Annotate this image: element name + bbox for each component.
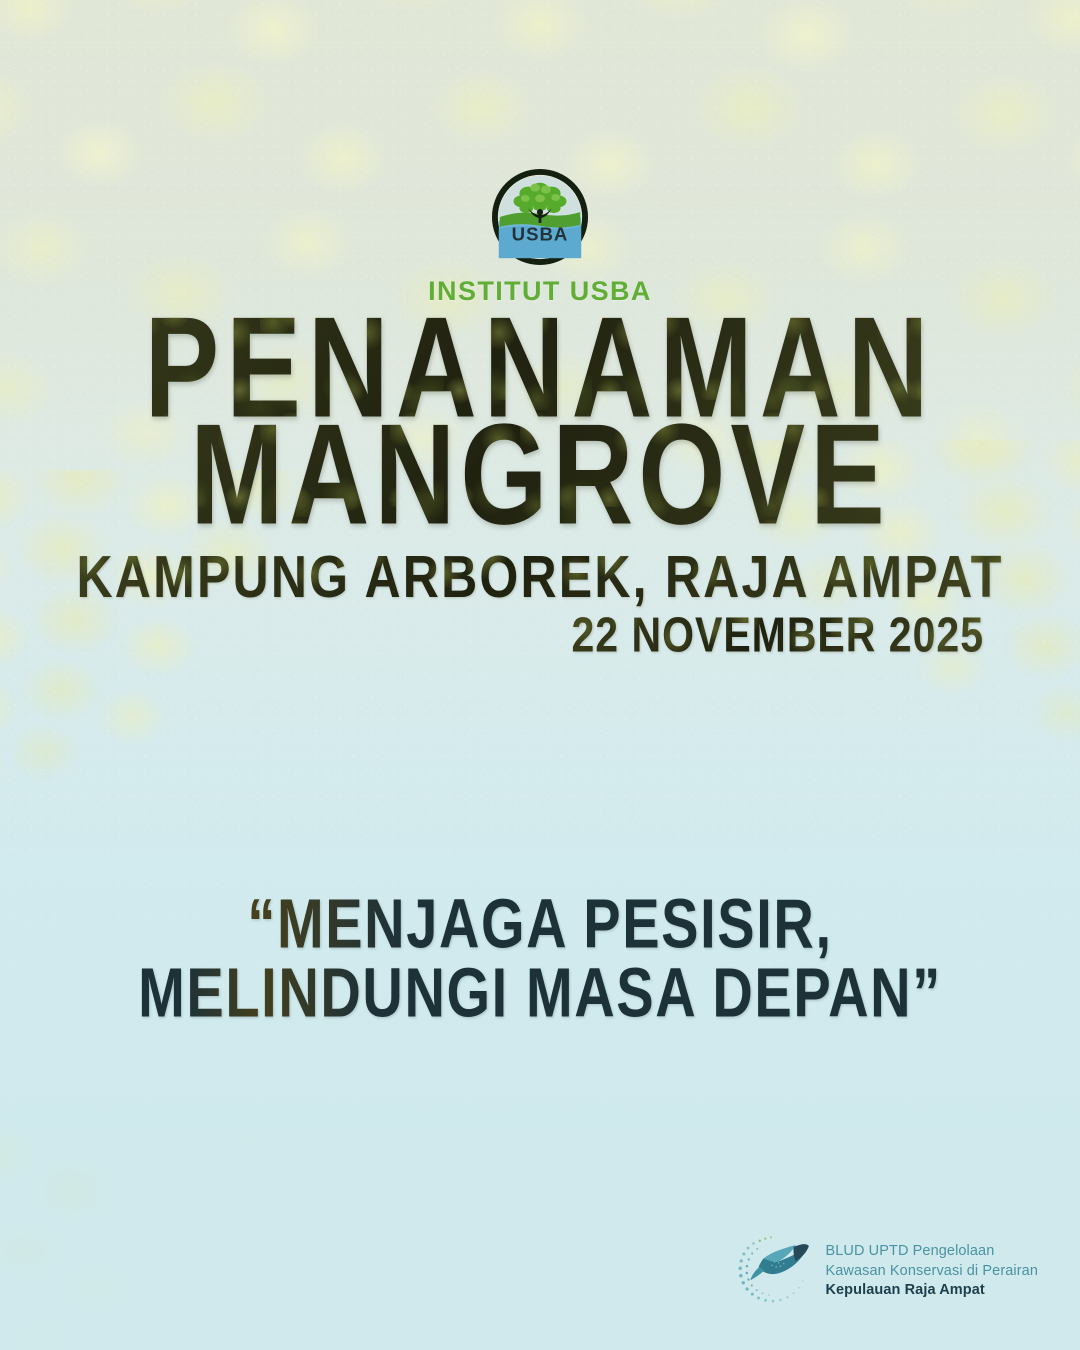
- svg-text:USBA: USBA: [512, 224, 569, 245]
- quote-line-1: “MENJAGA PESISIR,: [0, 888, 1080, 959]
- partner-line-2: Kawasan Konservasi di Perairan: [825, 1264, 1038, 1279]
- usba-tree-circle-logo: USBA: [491, 168, 589, 266]
- manta-ray-dotted-circle-logo: [735, 1230, 819, 1314]
- quote-line-2: MELINDUNGI MASA DEPAN”: [0, 957, 1080, 1028]
- event-date: 22 NOVEMBER 2025: [571, 607, 984, 663]
- headline-block: PENANAMAN MANGROVE: [0, 300, 1080, 513]
- location-row: KAMPUNG ARBOREK, RAJA AMPAT: [0, 548, 1080, 606]
- quote-block: “MENJAGA PESISIR, MELINDUNGI MASA DEPAN”: [0, 888, 1080, 1014]
- poster-canvas: USBA INSTITUT USBA PENANAMAN MANGROVE KA…: [0, 0, 1080, 1350]
- headline-line-2: MANGROVE: [0, 407, 1080, 542]
- partner-logo-block: BLUD UPTD Pengelolaan Kawasan Konservasi…: [735, 1230, 1038, 1314]
- partner-text-block: BLUD UPTD Pengelolaan Kawasan Konservasi…: [825, 1244, 1038, 1300]
- date-row: 22 NOVEMBER 2025: [571, 612, 984, 659]
- location-text: KAMPUNG ARBOREK, RAJA AMPAT: [77, 543, 1004, 611]
- partner-line-1: BLUD UPTD Pengelolaan: [825, 1244, 1038, 1259]
- brand-block: USBA INSTITUT USBA: [0, 168, 1080, 307]
- poster-content: USBA INSTITUT USBA PENANAMAN MANGROVE KA…: [0, 0, 1080, 1350]
- partner-line-3: Kepulauan Raja Ampat: [825, 1283, 1038, 1298]
